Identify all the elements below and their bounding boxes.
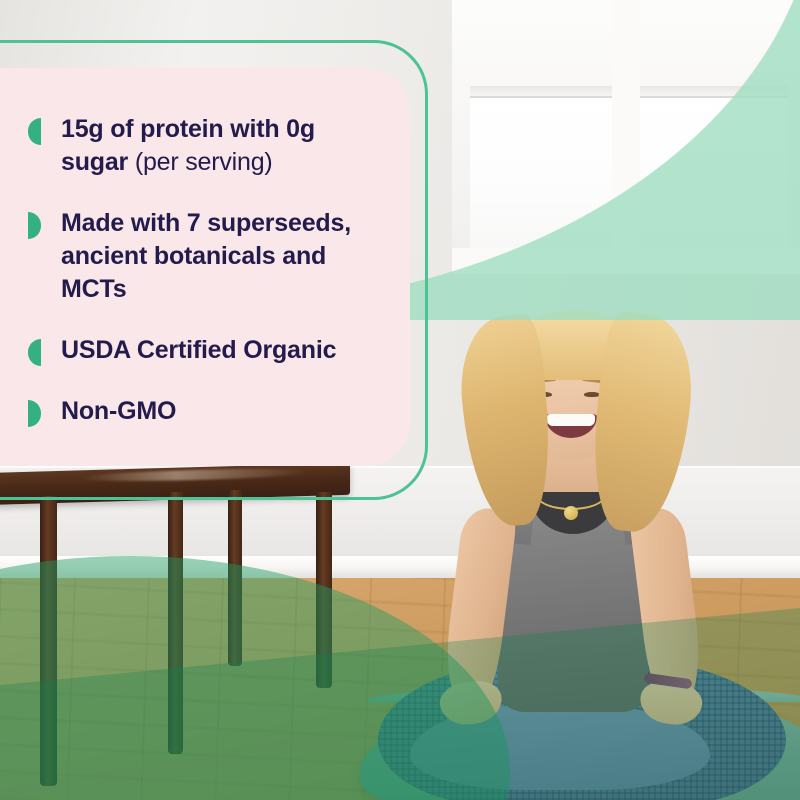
teeth xyxy=(547,414,595,426)
leaf-bullet-right-icon xyxy=(28,400,41,427)
benefit-bold-nongmo: Non-GMO xyxy=(61,397,176,425)
window-sill xyxy=(452,248,800,274)
benefits-card: 15g of protein with 0g sugar (per servin… xyxy=(0,68,410,466)
benefit-light-protein: (per serving) xyxy=(128,148,272,176)
benefit-text-protein: 15g of protein with 0g sugar (per servin… xyxy=(61,113,376,179)
window-shade-left xyxy=(470,86,612,98)
promo-image: 15g of protein with 0g sugar (per servin… xyxy=(0,0,800,800)
benefit-item-nongmo: Non-GMO xyxy=(28,395,376,428)
benefit-bold-superseeds: Made with 7 superseeds, ancient botanica… xyxy=(61,209,351,303)
window-shade-right xyxy=(638,86,788,98)
table-leg xyxy=(228,490,242,666)
window-pane-left xyxy=(470,92,612,252)
window-pane-right xyxy=(638,92,788,252)
table-leg xyxy=(168,492,183,754)
benefit-item-protein: 15g of protein with 0g sugar (per servin… xyxy=(28,113,376,179)
leaf-bullet-left-icon xyxy=(28,339,41,366)
table-leg xyxy=(316,492,332,688)
benefit-text-organic: USDA Certified Organic xyxy=(61,334,336,367)
leaf-bullet-right-icon xyxy=(28,212,41,239)
necklace-pendant xyxy=(564,506,578,520)
table-leg xyxy=(40,496,57,786)
benefit-text-superseeds: Made with 7 superseeds, ancient botanica… xyxy=(61,207,376,306)
benefit-item-superseeds: Made with 7 superseeds, ancient botanica… xyxy=(28,207,376,306)
window-mullion xyxy=(612,0,640,272)
leaf-bullet-left-icon xyxy=(28,118,41,145)
benefit-item-organic: USDA Certified Organic xyxy=(28,334,376,367)
benefit-text-nongmo: Non-GMO xyxy=(61,395,176,428)
benefit-bold-organic: USDA Certified Organic xyxy=(61,336,336,364)
